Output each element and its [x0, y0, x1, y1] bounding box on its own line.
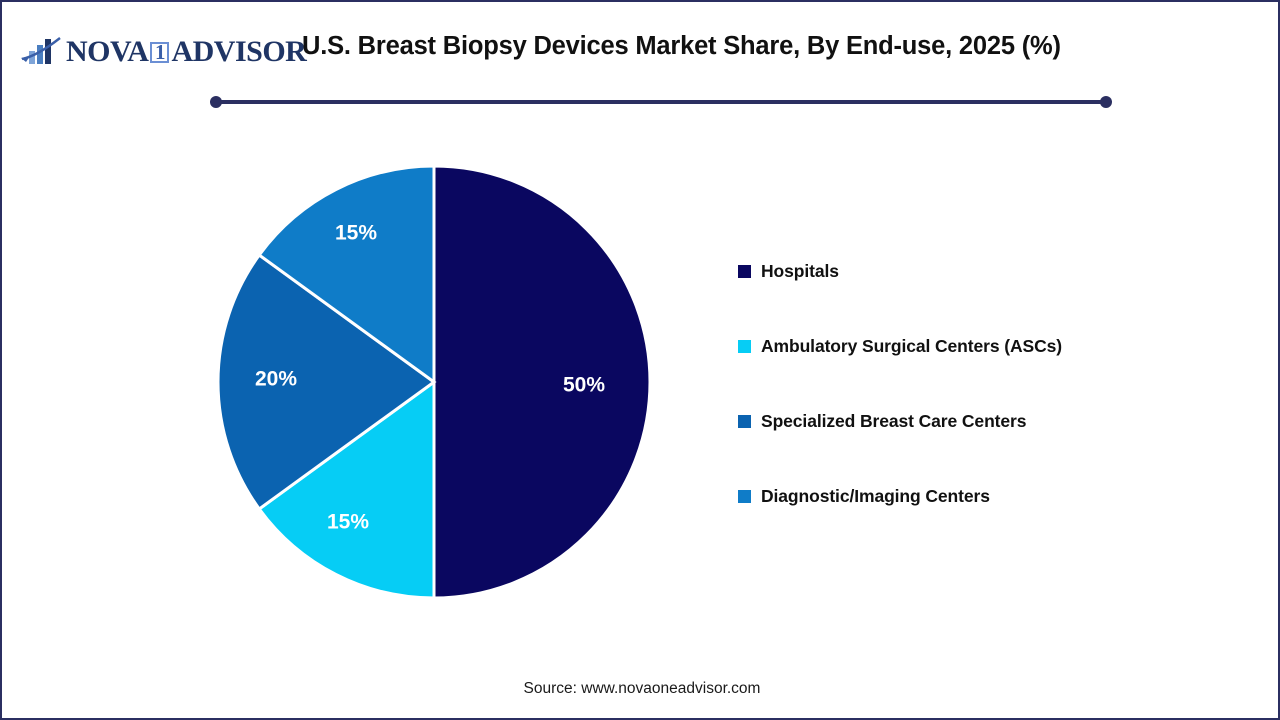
- page-title: U.S. Breast Biopsy Devices Market Share,…: [302, 32, 1202, 61]
- pie-chart-svg: 50%15%20%15%: [218, 164, 650, 600]
- legend-label-diagnostic-imaging-centers: Diagnostic/Imaging Centers: [761, 486, 990, 507]
- brand-name-badge: 1: [150, 42, 169, 63]
- pie-slice-label: 15%: [335, 222, 377, 245]
- pie-slice[interactable]: [434, 166, 650, 598]
- divider-dot-right: [1100, 96, 1112, 108]
- legend-label-specialized-breast-care-centers: Specialized Breast Care Centers: [761, 411, 1026, 432]
- legend-swatch-diagnostic-imaging-centers: [738, 490, 751, 503]
- legend-swatch-specialized-breast-care-centers: [738, 415, 751, 428]
- brand-name: NOVA1ADVISOR: [66, 37, 306, 67]
- legend-label-ambulatory-surgical-centers: Ambulatory Surgical Centers (ASCs): [761, 336, 1062, 357]
- chart-legend: Hospitals Ambulatory Surgical Centers (A…: [738, 260, 1158, 507]
- brand-logo: NOVA1ADVISOR: [20, 32, 306, 72]
- chart-page: NOVA1ADVISOR U.S. Breast Biopsy Devices …: [0, 0, 1280, 720]
- pie-slice-label: 50%: [563, 374, 605, 397]
- legend-label-hospitals: Hospitals: [761, 261, 839, 282]
- divider-line: [216, 100, 1106, 104]
- pie-chart: 50%15%20%15%: [218, 164, 650, 600]
- legend-item-ambulatory-surgical-centers[interactable]: Ambulatory Surgical Centers (ASCs): [738, 335, 1158, 357]
- legend-swatch-ambulatory-surgical-centers: [738, 340, 751, 353]
- legend-item-hospitals[interactable]: Hospitals: [738, 260, 1158, 282]
- legend-swatch-hospitals: [738, 265, 751, 278]
- brand-name-part1: NOVA: [66, 37, 148, 67]
- legend-item-specialized-breast-care-centers[interactable]: Specialized Breast Care Centers: [738, 410, 1158, 432]
- bar-chart-swoosh-icon: [20, 35, 64, 69]
- title-divider: [210, 96, 1112, 108]
- pie-slice-label: 20%: [255, 368, 297, 391]
- source-note: Source: www.novaoneadvisor.com: [2, 680, 1280, 698]
- legend-item-diagnostic-imaging-centers[interactable]: Diagnostic/Imaging Centers: [738, 485, 1158, 507]
- brand-name-part2: ADVISOR: [171, 37, 306, 67]
- pie-slice-label: 15%: [327, 511, 369, 534]
